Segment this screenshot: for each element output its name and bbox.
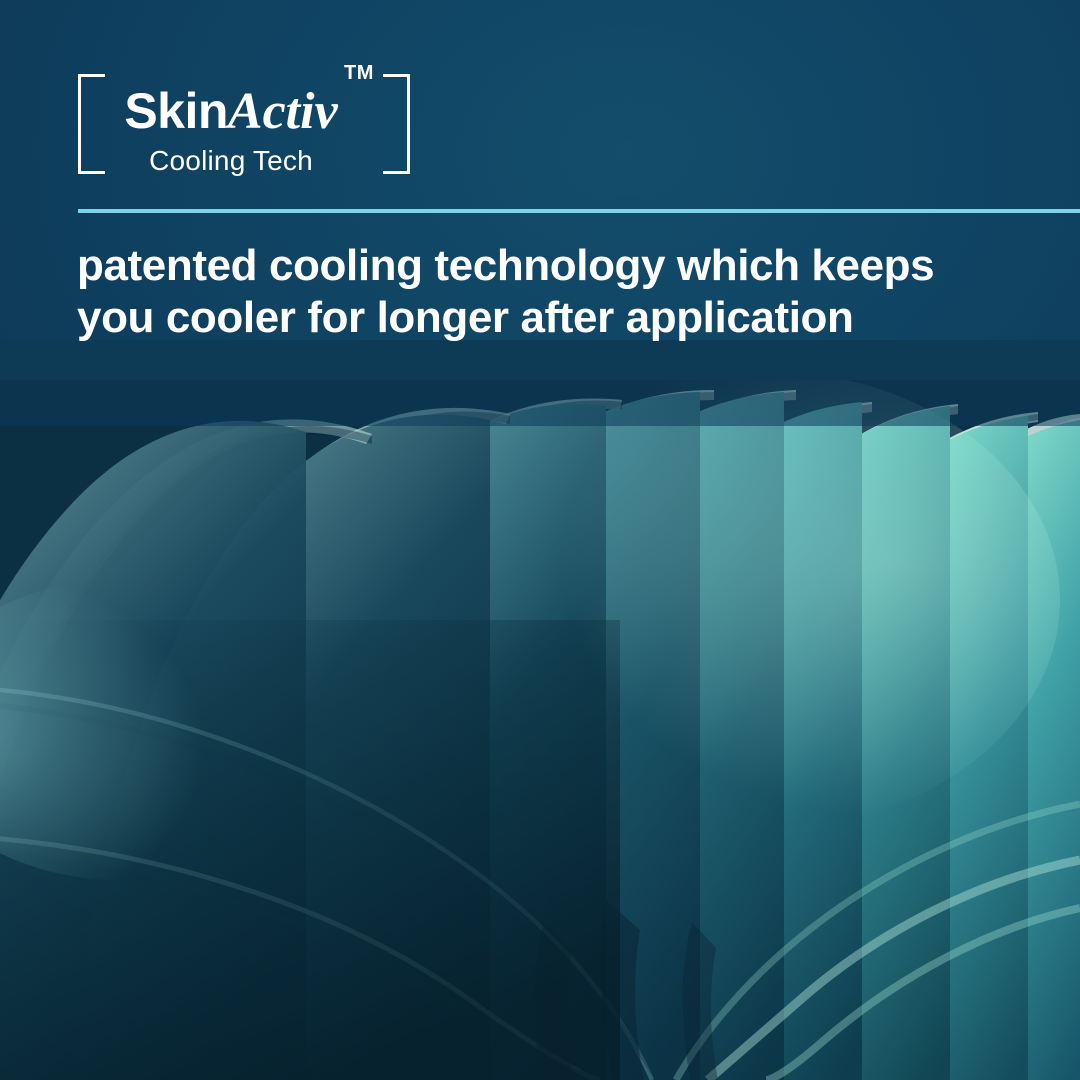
- bracket-left-icon: [78, 74, 104, 174]
- logo-text-group: SkinActiv Cooling Tech: [106, 78, 356, 175]
- headline-line-1: patented cooling technology which keeps: [77, 240, 1017, 292]
- poster-canvas: SkinActiv Cooling Tech TM patented cooli…: [0, 0, 1080, 1080]
- wordmark-skin: Skin: [124, 83, 228, 139]
- accent-divider: [78, 209, 1080, 213]
- wordmark-activ: Activ: [228, 83, 338, 140]
- wordmark: SkinActiv: [106, 86, 356, 138]
- headline: patented cooling technology which keeps …: [77, 240, 1017, 344]
- trademark-symbol: TM: [344, 62, 374, 85]
- wordmark-sub: Cooling Tech: [106, 147, 356, 175]
- brand-logo: SkinActiv Cooling Tech: [72, 74, 392, 178]
- headline-line-2: you cooler for longer after application: [77, 292, 1017, 344]
